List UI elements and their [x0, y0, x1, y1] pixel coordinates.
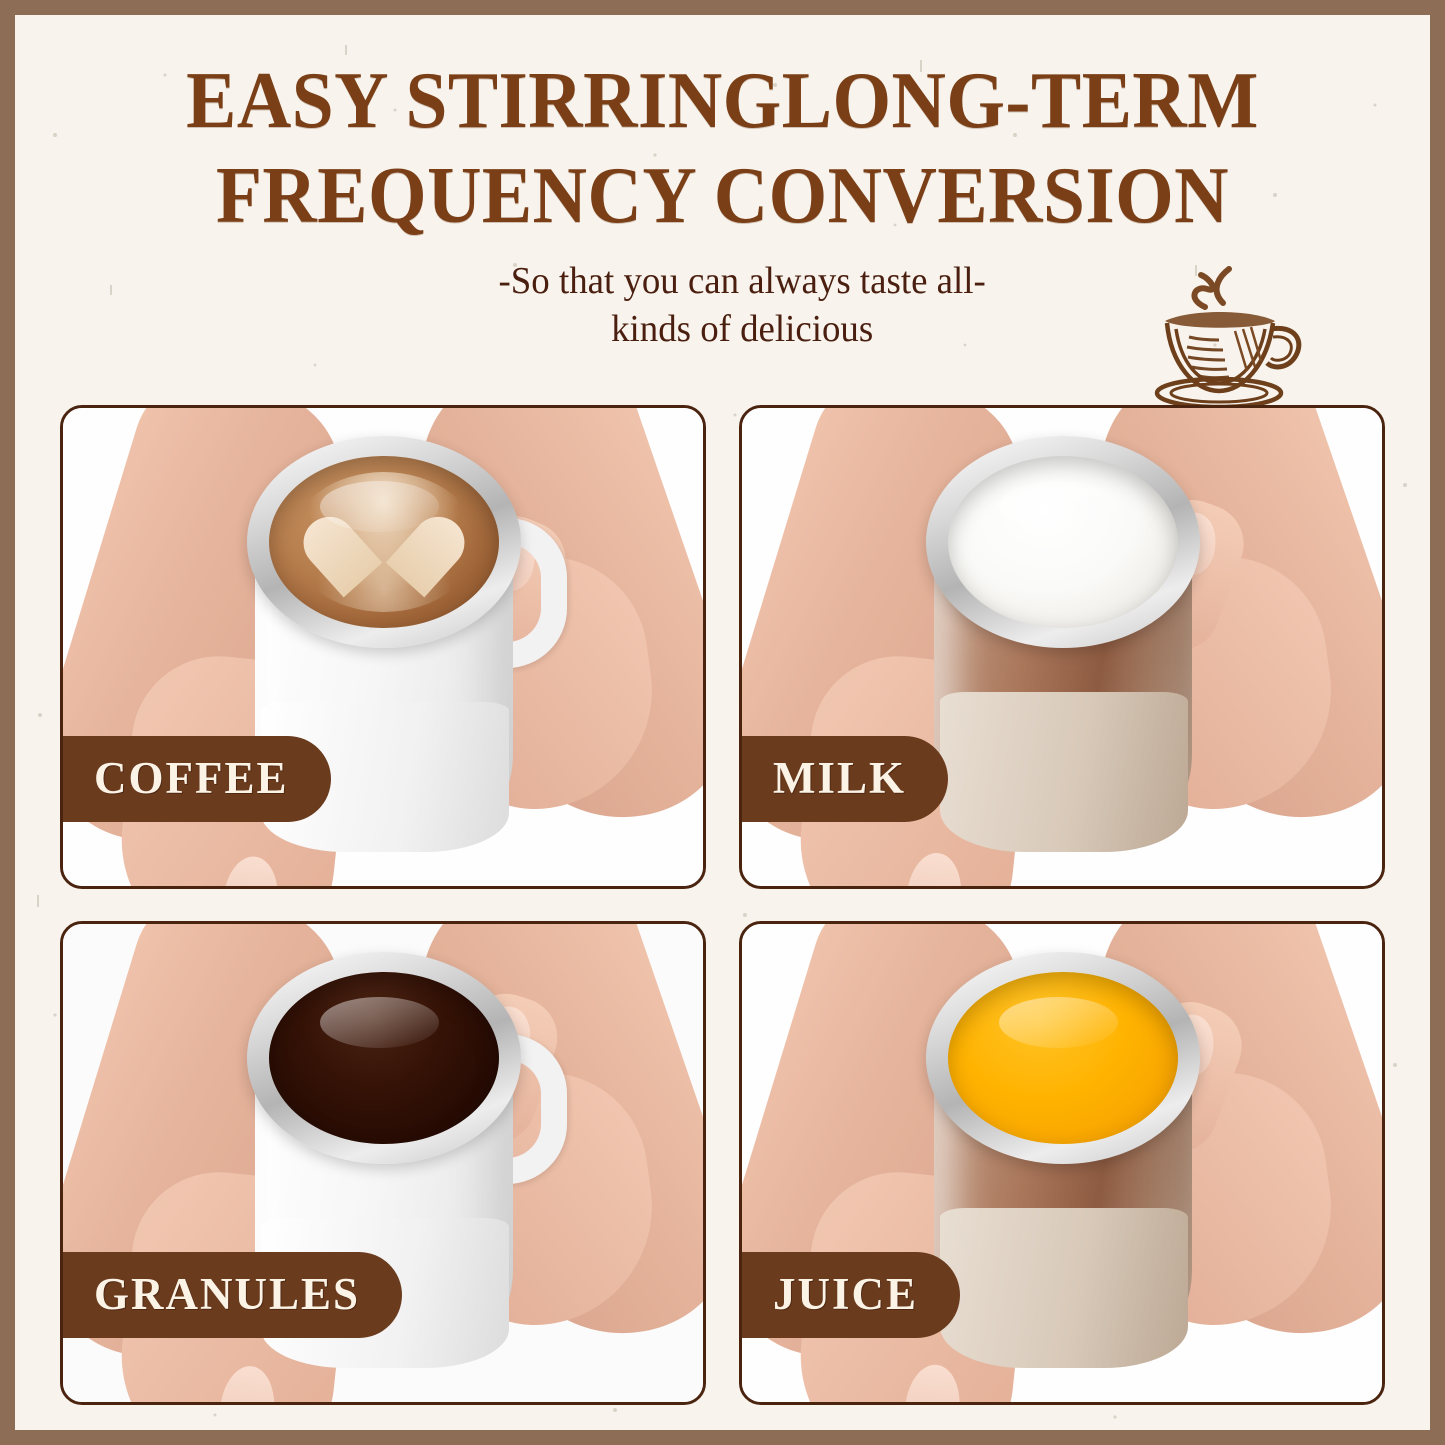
feature-panel-granules[interactable]: GRANULES — [60, 921, 706, 1405]
left-thumbnail — [221, 854, 282, 886]
poster-frame: EASY STIRRINGLONG-TERM FREQUENCY CONVERS… — [0, 0, 1445, 1445]
panel-label-coffee: COFFEE — [60, 736, 331, 822]
headline-block: EASY STIRRINGLONG-TERM FREQUENCY CONVERS… — [15, 15, 1430, 243]
left-thumbnail — [904, 850, 965, 886]
liquid-surface-milk — [948, 456, 1178, 628]
latte-art-heart — [335, 500, 433, 592]
liquid-surface-latte — [269, 456, 499, 628]
page-title: EASY STIRRINGLONG-TERM FREQUENCY CONVERS… — [65, 53, 1381, 243]
page-subtitle: -So that you can always taste all- kinds… — [499, 257, 986, 354]
panel-label-milk: MILK — [739, 736, 948, 822]
mug-lower-band — [940, 692, 1188, 852]
left-thumbnail — [217, 1363, 278, 1402]
feature-panel-juice[interactable]: JUICE — [739, 921, 1385, 1405]
liquid-surface-dark-coffee — [269, 972, 499, 1144]
liquid-gloss — [999, 481, 1119, 533]
poster-canvas: EASY STIRRINGLONG-TERM FREQUENCY CONVERS… — [15, 15, 1430, 1430]
feature-panel-milk[interactable]: MILK — [739, 405, 1385, 889]
liquid-gloss — [320, 997, 440, 1049]
liquid-surface-juice — [948, 972, 1178, 1144]
feature-panel-grid: COFFEE — [60, 405, 1385, 1405]
self-stirring-tumbler — [912, 422, 1212, 852]
panel-label-granules: GRANULES — [60, 1252, 402, 1338]
steaming-coffee-cup-icon — [1143, 263, 1313, 413]
feature-panel-coffee[interactable]: COFFEE — [60, 405, 706, 889]
mug-lower-band — [940, 1208, 1188, 1368]
liquid-gloss — [999, 997, 1119, 1049]
panel-label-juice: JUICE — [739, 1252, 960, 1338]
